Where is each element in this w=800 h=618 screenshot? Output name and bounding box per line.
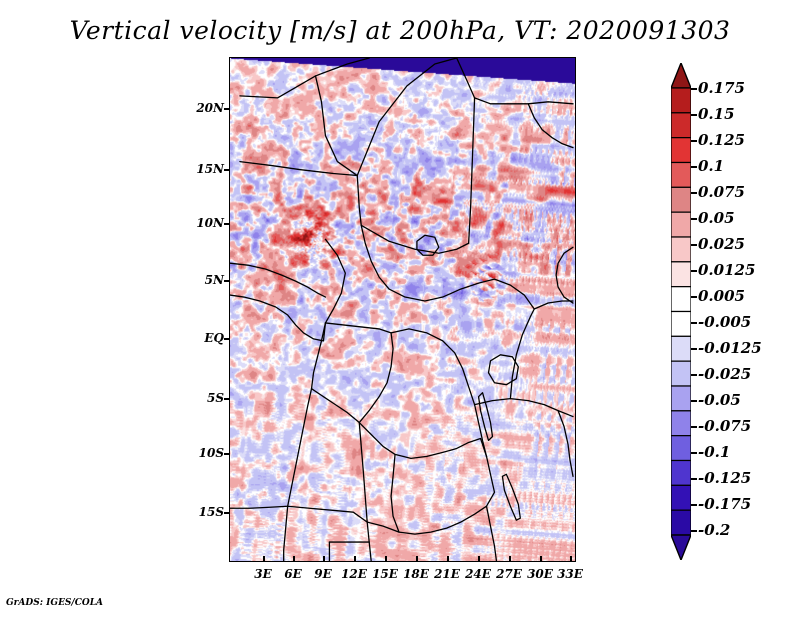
colorbar-tick-mark [691, 166, 697, 168]
lat-tick-label: 10N [196, 216, 224, 230]
lat-tick-label: 15N [196, 162, 224, 176]
lon-tick-mark [416, 556, 418, 562]
lat-tick-mark [224, 169, 230, 171]
colorbar-tick-mark [691, 218, 697, 220]
lon-tick-mark [540, 556, 542, 562]
colorbar-tick-label: 0.005 [698, 287, 745, 305]
colorbar-tick-mark [691, 192, 697, 194]
lon-tick-label: 33E [550, 567, 590, 581]
lat-tick-label: 5N [196, 273, 224, 287]
lon-tick-mark [385, 556, 387, 562]
lat-tick-mark [224, 280, 230, 282]
colorbar-tick-label: -0.05 [698, 391, 741, 409]
grads-credit: GrADS: IGES/COLA [6, 598, 103, 608]
colorbar-tick-label: -0.0125 [698, 339, 762, 357]
lon-tick-mark [447, 556, 449, 562]
colorbar-tick-label: 0.1 [698, 157, 724, 175]
colorbar-tick-mark [691, 348, 697, 350]
vertical-velocity-field [230, 58, 575, 561]
colorbar-tick-mark [691, 140, 697, 142]
lon-tick-mark [354, 556, 356, 562]
colorbar-tick-label: -0.005 [698, 313, 751, 331]
colorbar-tick-label: 0.175 [698, 79, 745, 97]
colorbar-tick-label: 0.15 [698, 105, 735, 123]
page-title: Vertical velocity [m/s] at 200hPa, VT: 2… [0, 16, 800, 45]
lat-tick-label: 5S [196, 391, 224, 405]
colorbar-tick-mark [691, 244, 697, 246]
lon-tick-mark [263, 556, 265, 562]
lon-tick-mark [323, 556, 325, 562]
colorbar-tick-label: 0.05 [698, 209, 735, 227]
lat-tick-mark [224, 223, 230, 225]
colorbar-tick-mark [691, 530, 697, 532]
colorbar-tick-label: -0.075 [698, 417, 751, 435]
lat-tick-mark [224, 398, 230, 400]
colorbar[interactable] [671, 63, 691, 560]
colorbar-tick-label: 0.075 [698, 183, 745, 201]
colorbar-tick-label: 0.125 [698, 131, 745, 149]
colorbar-tick-label: 0.0125 [698, 261, 755, 279]
colorbar-tick-mark [691, 322, 697, 324]
lat-tick-label: 20N [196, 101, 224, 115]
colorbar-tick-mark [691, 296, 697, 298]
colorbar-tick-mark [691, 504, 697, 506]
lat-tick-label: EQ [196, 331, 224, 345]
lon-tick-mark [509, 556, 511, 562]
colorbar-tick-label: -0.025 [698, 365, 751, 383]
colorbar-tick-mark [691, 114, 697, 116]
lat-tick-mark [224, 338, 230, 340]
colorbar-tick-mark [691, 270, 697, 272]
lat-tick-label: 15S [196, 505, 224, 519]
colorbar-tick-label: -0.175 [698, 495, 751, 513]
colorbar-tick-label: -0.1 [698, 443, 730, 461]
map-plot-area[interactable] [229, 57, 576, 562]
lat-tick-mark [224, 453, 230, 455]
colorbar-tick-mark [691, 400, 697, 402]
lon-tick-mark [570, 556, 572, 562]
lon-tick-mark [293, 556, 295, 562]
colorbar-tick-mark [691, 452, 697, 454]
lat-tick-label: 10S [196, 446, 224, 460]
colorbar-tick-mark [691, 478, 697, 480]
colorbar-tick-label: -0.125 [698, 469, 751, 487]
colorbar-tick-label: 0.025 [698, 235, 745, 253]
lon-tick-mark [478, 556, 480, 562]
colorbar-tick-mark [691, 88, 697, 90]
colorbar-tick-label: -0.2 [698, 521, 730, 539]
colorbar-tick-mark [691, 374, 697, 376]
lat-tick-mark [224, 108, 230, 110]
lat-tick-mark [224, 512, 230, 514]
colorbar-tick-mark [691, 426, 697, 428]
